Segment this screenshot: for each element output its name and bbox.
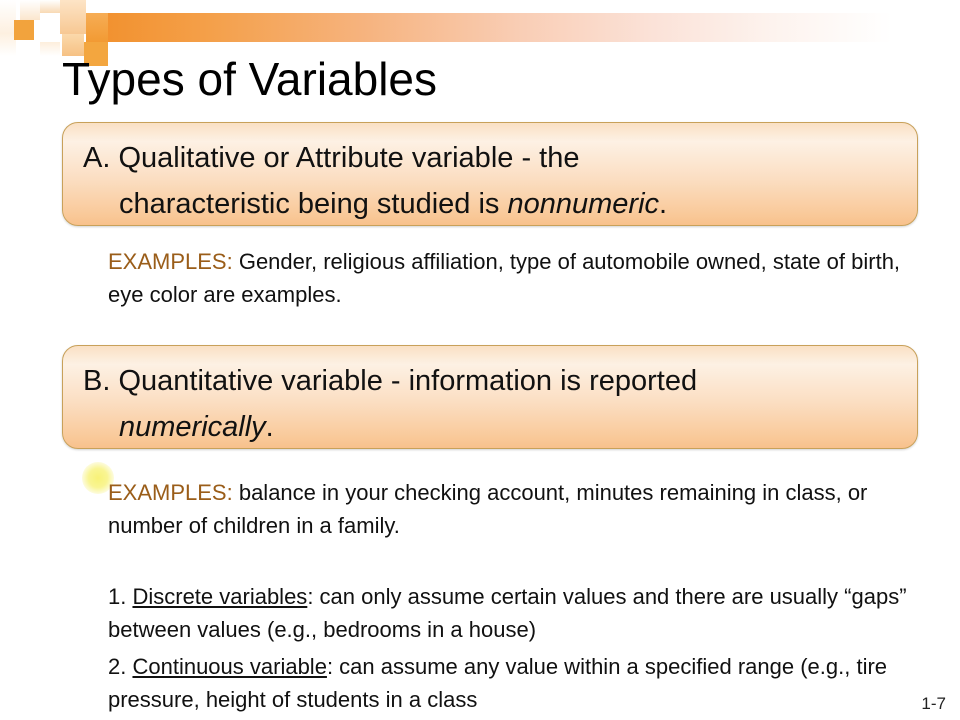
box-a-line2-italic: nonnumeric [507,188,659,220]
examples-label-a: EXAMPLES: [108,249,233,274]
callout-box-qualitative: A. Qualitative or Attribute variable - t… [62,122,918,226]
decor-square-4 [14,20,34,40]
list-item-continuous: 2. Continuous variable: can assume any v… [108,650,938,716]
decor-square-7 [40,42,60,56]
box-a-line2-suffix: . [659,188,667,220]
list-item-1-number: 1. [108,584,132,609]
box-b-line2-italic: numerically [119,411,266,443]
callout-box-quantitative: B. Quantitative variable - information i… [62,345,918,449]
list-item-discrete: 1. Discrete variables: can only assume c… [108,580,938,646]
slide-canvas: Types of Variables A. Qualitative or Att… [0,0,960,720]
list-item-1-term: Discrete variables [132,584,307,609]
examples-quantitative: EXAMPLES: balance in your checking accou… [108,476,938,542]
examples-label-b: EXAMPLES: [108,480,233,505]
box-a-line2: characteristic being studied is nonnumer… [83,181,901,227]
list-item-2-number: 2. [108,654,132,679]
header-gradient-bar [108,13,960,42]
box-a-line1: A. Qualitative or Attribute variable - t… [83,142,579,174]
decor-square-3 [60,0,86,34]
slide-number: 1-7 [921,694,946,714]
box-b-line2-suffix: . [266,411,274,443]
decor-square-1 [20,0,40,20]
decor-square-2 [40,0,60,13]
page-title: Types of Variables [62,52,437,106]
box-b-line1: B. Quantitative variable - information i… [83,365,697,397]
box-a-line2-prefix: characteristic being studied is [119,188,507,220]
decor-square-5 [86,13,108,42]
box-b-line2: numerically. [83,404,901,450]
list-item-2-term: Continuous variable [132,654,326,679]
examples-qualitative: EXAMPLES: Gender, religious affiliation,… [108,245,938,311]
